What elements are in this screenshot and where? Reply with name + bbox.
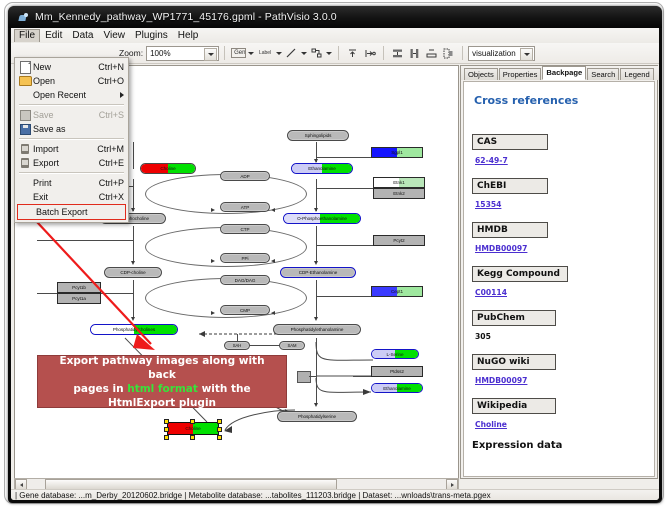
menu-bar: File Edit Data View Plugins Help — [11, 28, 659, 44]
xref-value-cas[interactable]: 62-49-7 — [475, 156, 508, 165]
callout-line-1: Export pathway images along with back — [44, 354, 280, 382]
new-file-icon — [17, 61, 33, 74]
xref-header-hmdb: HMDB — [472, 222, 548, 238]
node-sah[interactable]: SAH — [224, 341, 250, 350]
edge-cept1 — [316, 296, 371, 297]
menu-item-import[interactable]: Import Ctrl+M — [15, 142, 128, 156]
menu-item-export-shortcut: Ctrl+E — [99, 158, 124, 168]
tab-objects[interactable]: Objects — [464, 68, 498, 80]
spacer-icon-3 — [17, 191, 33, 204]
menu-separator-3 — [19, 172, 124, 174]
edge-choline-in — [133, 142, 134, 169]
annotation-arrow — [31, 216, 171, 361]
submenu-arrow-icon — [120, 92, 124, 98]
menu-file[interactable]: File — [14, 29, 40, 42]
toolbar-separator-2 — [338, 46, 339, 60]
selection-handle-w[interactable] — [164, 427, 169, 432]
menu-item-print-shortcut: Ctrl+P — [99, 178, 124, 188]
node-ethanolamine[interactable]: Ethanolamine — [291, 163, 353, 174]
arrowhead-cdpethanolamine — [314, 261, 318, 265]
save-as-icon — [17, 123, 33, 136]
align-left-icon[interactable] — [362, 46, 377, 60]
interaction-dropdown-icon[interactable] — [325, 46, 333, 60]
arrowhead-cmp-2 — [271, 311, 275, 315]
xref-value-kegg[interactable]: C00114 — [475, 288, 507, 297]
node-cmp[interactable]: CMP — [220, 305, 270, 315]
menu-item-save-label: Save — [33, 110, 99, 120]
menu-item-save-as[interactable]: Save as — [15, 122, 128, 136]
node-cdp-ethanolamine[interactable]: CDP-Ethanolamine — [280, 267, 356, 278]
application-window: Mm_Kennedy_pathway_WP1771_45176.gpml - P… — [8, 6, 662, 503]
import-icon — [17, 143, 33, 156]
label-dropdown-icon[interactable] — [275, 46, 283, 60]
datanode-dropdown-icon[interactable] — [247, 46, 255, 60]
node-ethanolamine-2[interactable]: Ethanolamine — [371, 383, 423, 393]
menu-item-save: Save Ctrl+S — [15, 108, 128, 122]
edge-ophospho-cdpethanolamine — [316, 226, 317, 262]
selection-handle-ne[interactable] — [217, 419, 222, 424]
callout-html-format: html format — [127, 383, 198, 395]
menu-item-import-label: Import — [33, 144, 97, 154]
distribute-vertical-icon[interactable] — [390, 46, 405, 60]
menu-separator-1 — [19, 104, 124, 106]
zoom-combobox[interactable]: 100% — [146, 46, 219, 61]
zoom-value: 100% — [150, 49, 170, 58]
title-bar[interactable]: Mm_Kennedy_pathway_WP1771_45176.gpml - P… — [8, 6, 662, 28]
node-ctp[interactable]: CTP — [220, 224, 270, 234]
node-dag-dag[interactable]: DAG/DAG — [220, 275, 270, 285]
visualization-chevron-icon[interactable] — [520, 48, 533, 61]
tab-search[interactable]: Search — [587, 68, 619, 80]
menu-item-batch-export[interactable]: Batch Export — [17, 204, 126, 220]
xref-value-chebi[interactable]: 15354 — [475, 200, 501, 209]
callout-line-2: pages in html format with the — [73, 382, 250, 396]
menu-item-exit-shortcut: Ctrl+X — [99, 192, 124, 202]
menu-item-open-recent[interactable]: Open Recent — [15, 88, 128, 102]
screenshot-root: Mm_Kennedy_pathway_WP1771_45176.gpml - P… — [0, 0, 670, 509]
xref-value-hmdb[interactable]: HMDB00097 — [475, 244, 527, 253]
line-dropdown-icon[interactable] — [300, 46, 308, 60]
expression-data-title: Expression data — [472, 440, 562, 451]
node-choline[interactable]: Choline — [140, 163, 196, 174]
visualization-value: visualization — [472, 49, 516, 58]
edge-ethanolamine-ophospho — [316, 179, 317, 211]
menu-separator-2 — [19, 138, 124, 140]
xref-header-kegg: Kegg Compound — [472, 266, 568, 282]
menu-item-new-label: New — [33, 62, 98, 72]
export-icon — [17, 157, 33, 170]
menu-item-export-label: Export — [33, 158, 99, 168]
open-folder-icon — [17, 75, 33, 88]
xref-header-wikipedia: Wikipedia — [472, 398, 556, 414]
label-button[interactable]: Label — [256, 46, 274, 60]
file-dropdown-menu[interactable]: New Ctrl+N Open Ctrl+O Open Recent Save — [14, 57, 129, 223]
anchor-node — [297, 371, 311, 383]
selection-handle-sw[interactable] — [164, 435, 169, 440]
selection-handle-e[interactable] — [217, 427, 222, 432]
edge-cdpethanolamine-pte — [316, 280, 317, 318]
tab-backpage[interactable]: Backpage — [542, 66, 586, 80]
xref-header-nugo: NuGO wiki — [472, 354, 556, 370]
interaction-tool-icon[interactable] — [309, 46, 324, 60]
gene-etnk1[interactable]: Etnk1 — [373, 177, 425, 188]
menu-item-new[interactable]: New Ctrl+N — [15, 60, 128, 74]
gene-pcyt2[interactable]: Pcyt2 — [373, 235, 425, 246]
chevron-down-icon[interactable] — [204, 48, 217, 61]
xref-value-wikipedia[interactable]: Choline — [475, 420, 507, 429]
datanode-label: GeneProduct — [231, 48, 246, 58]
arrowhead-phosphocholine — [131, 208, 135, 212]
node-ppi[interactable]: PPi — [220, 253, 270, 263]
pathvisio-icon — [18, 12, 29, 23]
menu-item-save-as-label: Save as — [33, 124, 124, 134]
menu-item-export[interactable]: Export Ctrl+E — [15, 156, 128, 170]
arrowhead-atp-2 — [271, 208, 275, 212]
node-phosphatidylserine[interactable]: Phosphatidylserine — [277, 411, 357, 422]
node-adp[interactable]: ADP — [220, 171, 270, 181]
callout-line-3: HtmlExport plugin — [108, 396, 216, 410]
cross-references-title: Cross references — [474, 94, 578, 107]
window-title: Mm_Kennedy_pathway_WP1771_45176.gpml - P… — [35, 11, 337, 23]
menu-item-batch-export-label: Batch Export — [36, 207, 125, 217]
backpage-content: Cross references CAS 62-49-7 ChEBI 15354… — [463, 81, 655, 477]
stack-icon[interactable] — [424, 46, 439, 60]
menu-item-exit[interactable]: Exit Ctrl+X — [15, 190, 128, 204]
selection-handle-nw[interactable] — [164, 419, 169, 424]
selection-handle-se[interactable] — [217, 435, 222, 440]
menu-item-print-label: Print — [33, 178, 99, 188]
side-dock-panel: Objects Properties Backpage Search Legen… — [460, 65, 658, 479]
spacer-icon — [17, 89, 33, 102]
client-area: File Edit Data View Plugins Help Zoom: 1… — [11, 28, 659, 500]
toolbar-separator — [224, 46, 225, 60]
menu-item-new-shortcut: Ctrl+N — [98, 62, 124, 72]
edge-pcyt2 — [316, 245, 373, 246]
line-tool-icon[interactable] — [284, 46, 299, 60]
arrowhead-ppi — [211, 259, 215, 263]
align-top-icon[interactable] — [345, 46, 360, 60]
node-o-phosphoethanolamine[interactable]: O-Phosphoethanolamine — [283, 213, 361, 224]
menu-help[interactable]: Help — [173, 29, 204, 43]
menu-data[interactable]: Data — [67, 29, 98, 43]
menu-plugins[interactable]: Plugins — [130, 29, 173, 43]
selection-handle-n[interactable] — [190, 419, 195, 424]
group-icon[interactable] — [441, 46, 456, 60]
status-bar: | Gene database: ...m_Derby_20120602.bri… — [11, 489, 659, 500]
toolbar-separator-4 — [462, 46, 463, 60]
node-l-serine[interactable]: L-Serine — [371, 349, 419, 359]
save-icon — [17, 109, 33, 122]
menu-edit[interactable]: Edit — [40, 29, 67, 43]
distribute-horizontal-icon[interactable] — [407, 46, 422, 60]
status-text: | Gene database: ...m_Derby_20120602.bri… — [15, 491, 491, 500]
menu-view[interactable]: View — [98, 29, 130, 43]
label-button-text: Label — [259, 50, 271, 56]
edge-anchor — [309, 376, 317, 377]
gene-ptdss2[interactable]: Ptdss2 — [371, 366, 423, 377]
edge-sgpl1 — [316, 157, 371, 158]
spacer-icon-2 — [17, 177, 33, 190]
node-phosphatidylethanolamine[interactable]: Phosphatidylethanolamine — [273, 324, 361, 335]
xref-header-chebi: ChEBI — [472, 178, 548, 194]
node-sphingolipids[interactable]: Sphingolipids — [287, 130, 349, 141]
node-atp[interactable]: ATP — [220, 202, 270, 212]
menu-item-open-shortcut: Ctrl+O — [98, 76, 124, 86]
menu-item-save-shortcut: Ctrl+S — [99, 110, 124, 120]
callout-line-2b: with the — [198, 383, 251, 395]
visualization-combobox[interactable]: visualization — [468, 46, 535, 61]
callout-line-2a: pages in — [73, 383, 127, 395]
menu-item-exit-label: Exit — [33, 192, 99, 202]
menu-item-open[interactable]: Open Ctrl+O — [15, 74, 128, 88]
xref-value-nugo[interactable]: HMDB00097 — [475, 376, 527, 385]
menu-item-open-label: Open — [33, 76, 98, 86]
edge-etnk — [316, 188, 373, 189]
menu-item-print[interactable]: Print Ctrl+P — [15, 176, 128, 190]
spacer-icon-4 — [20, 206, 36, 219]
gene-etnk2[interactable]: Etnk2 — [373, 188, 425, 199]
arrowhead-cmp — [211, 311, 215, 315]
arrowhead-pte — [314, 317, 318, 321]
arrowhead-ppi-2 — [271, 259, 275, 263]
xref-header-cas: CAS — [472, 134, 548, 150]
tab-properties[interactable]: Properties — [499, 68, 542, 80]
tab-legend[interactable]: Legend — [620, 68, 653, 80]
toolbar-separator-3 — [383, 46, 384, 60]
edge-choline-phosphocholine — [133, 179, 134, 211]
menu-item-open-recent-label: Open Recent — [33, 90, 120, 100]
gene-sgpl1[interactable]: Sgpl1 — [371, 147, 423, 158]
dock-tabstrip: Objects Properties Backpage Search Legen… — [461, 66, 659, 80]
gene-cept1[interactable]: Cept1 — [371, 286, 423, 297]
xref-value-pubchem: 305 — [475, 332, 491, 341]
menu-item-import-shortcut: Ctrl+M — [97, 144, 124, 154]
edge-anchor-ptdss2 — [353, 376, 371, 377]
datanode-button[interactable]: GeneProduct — [231, 46, 246, 60]
selection-handle-s[interactable] — [190, 435, 195, 440]
arrowhead-atp — [211, 208, 215, 212]
annotation-callout: Export pathway images along with back pa… — [37, 355, 287, 408]
arrowhead-ophospho — [314, 208, 318, 212]
xref-header-pubchem: PubChem — [472, 310, 556, 326]
node-sam[interactable]: SAM — [279, 341, 305, 350]
